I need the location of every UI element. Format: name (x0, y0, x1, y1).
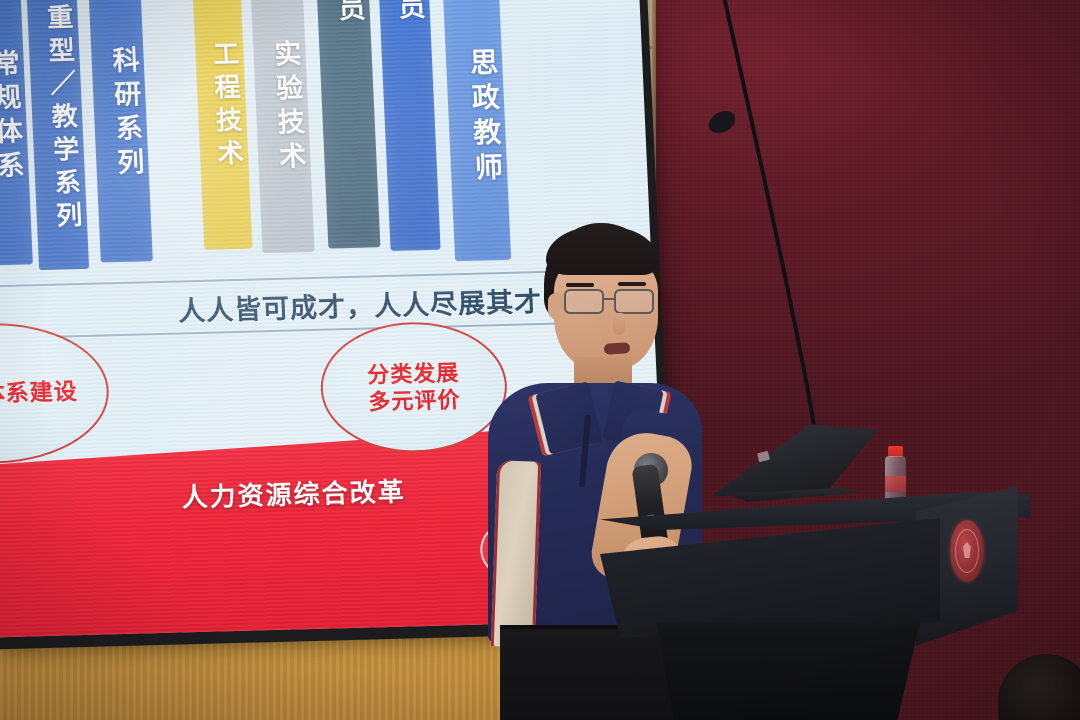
speaker-hair-front (546, 227, 658, 275)
column-shiyan-jishu: 实验技术 (249, 0, 315, 253)
column-gongcheng-jishu: 工程技术 (191, 0, 253, 250)
speaker-eyebrow-right (618, 282, 646, 286)
lectern-base (640, 622, 920, 720)
speaker-mouth (604, 342, 631, 355)
lectern-front-panel (600, 518, 940, 638)
water-bottle[interactable] (884, 446, 906, 504)
slide-red-band-text: 人力资源综合改革 (143, 471, 445, 516)
ellipse-right-line2: 多元评价 (368, 386, 461, 416)
column-jiaoxue-xilie: 重型／教学系列 (25, 0, 89, 270)
ellipse-right-line1: 分类发展 (367, 359, 460, 389)
glasses-lens-left (564, 289, 604, 314)
ellipse-left-text: 聘体系建设 (0, 377, 78, 409)
column-keyan-xilie: 科研系列 (87, 0, 153, 263)
eyeglasses-icon (564, 289, 662, 315)
laptop-screen[interactable] (708, 424, 878, 496)
bottle-label (885, 476, 906, 492)
speaker-nose (613, 313, 625, 335)
speaker-eyebrow-left (566, 283, 594, 287)
slide-ellipse-left: 聘体系建设 (0, 320, 112, 466)
glasses-lens-right (614, 289, 654, 314)
university-crest-icon (950, 520, 984, 582)
speaker-ear (548, 293, 564, 319)
column-wenyuan: 文员 (377, 0, 441, 251)
shirt-side-panel (491, 460, 541, 647)
gooseneck-mic-icon (700, 0, 880, 470)
glasses-bridge (604, 298, 616, 300)
gooseneck-microphone (700, 0, 880, 470)
presentation-scene: 思政队伍 常规体系 重型／教学系列 科研系列 工程技术 实验技术 职员 文员 思… (0, 0, 1080, 720)
column-zhiyuan: 职员 (315, 0, 381, 249)
